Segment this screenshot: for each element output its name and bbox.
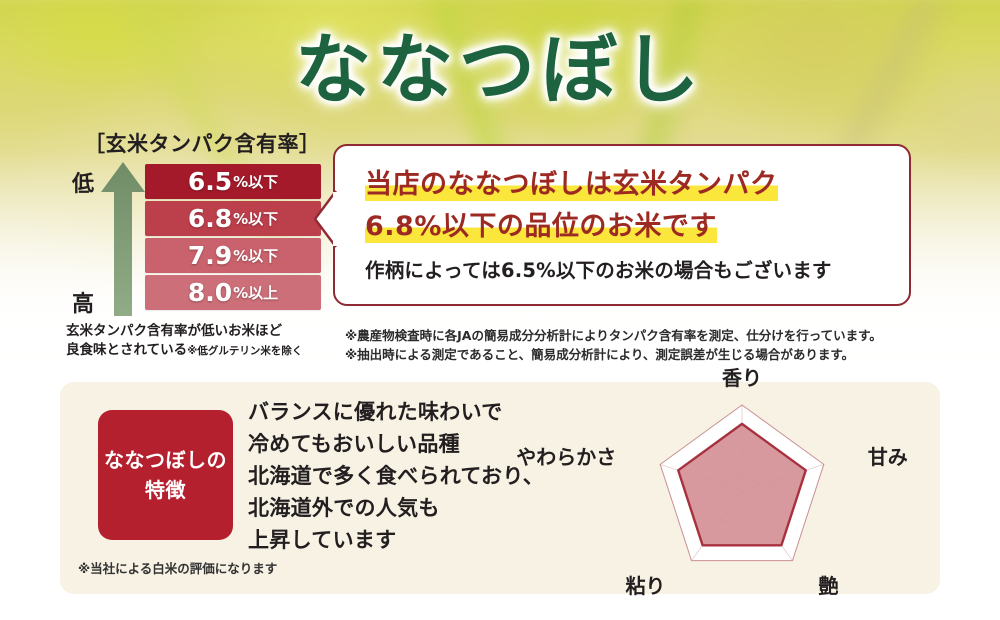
scale-low-label: 低 (72, 166, 94, 198)
measurement-notes: ※農産物検査時に各JAの簡易成分分析計によりタンパク含有率を測定、仕分けを行って… (345, 326, 905, 364)
protein-bar-list: 6.5%以下6.8%以下7.9%以下8.0%以上 (145, 164, 321, 312)
measurement-note-1: ※抽出時による測定であること、簡易成分析計により、測定誤差が生じる場合があります… (345, 345, 905, 364)
protein-bar-suffix: %以下 (233, 245, 278, 266)
infographic-page: ななつぼし ［玄米タンパク含有率］ 低 高 6.5%以下6.8%以下7.9%以下… (0, 0, 1000, 620)
features-badge: ななつぼしの 特徴 (98, 410, 233, 540)
measurement-note-0: ※農産物検査時に各JAの簡易成分分析計によりタンパク含有率を測定、仕分けを行って… (345, 326, 905, 345)
protein-bar-1: 6.8%以下 (145, 201, 321, 236)
radar-label-4: やわらかさ (0, 441, 616, 470)
protein-bar-suffix: %以上 (233, 282, 278, 303)
feature-line-0: バランスに優れた味わいで (248, 396, 548, 428)
features-text: バランスに優れた味わいで冷めてもおいしい品種北海道で多く食べられており、北海道外… (248, 396, 548, 556)
up-arrow-icon (100, 160, 146, 318)
scale-note: 玄米タンパク含有率が低いお米ほど 良食味とされている※低グルテリン米を除く (66, 322, 336, 361)
protein-bar-suffix: %以下 (233, 208, 278, 229)
protein-bar-suffix: %以下 (233, 171, 278, 192)
protein-bar-value: 6.5 (188, 167, 232, 196)
taste-radar-chart (570, 388, 930, 593)
callout-box: 当店のななつぼしは玄米タンパク 6.8%以下の品位のお米です 作柄によっては6.… (333, 144, 911, 306)
feature-line-4: 上昇しています (248, 524, 548, 556)
radar-label-1: 甘み (868, 441, 908, 470)
feature-line-3: 北海道外での人気も (248, 492, 548, 524)
radar-label-2: 艶 (819, 570, 839, 599)
callout-line-3: 作柄によっては6.5%以下のお米の場合もございます (365, 254, 832, 283)
scale-heading: ［玄米タンパク含有率］ (84, 128, 321, 158)
callout-line-1: 当店のななつぼしは玄米タンパク (365, 162, 778, 201)
radar-label-0: 香り (722, 362, 762, 391)
protein-bar-0: 6.5%以下 (145, 164, 321, 199)
scale-note-line1: 玄米タンパク含有率が低いお米ほど (66, 322, 336, 341)
callout-line-2: 6.8%以下の品位のお米です (365, 204, 717, 243)
protein-bar-value: 7.9 (188, 241, 232, 270)
protein-bar-3: 8.0%以上 (145, 275, 321, 310)
scale-note-line2: 良食味とされている※低グルテリン米を除く (66, 341, 336, 361)
protein-bar-value: 8.0 (188, 278, 232, 307)
radar-label-3: 粘り (0, 570, 665, 599)
badge-line-2: 特徴 (145, 475, 186, 505)
scale-note-small: ※低グルテリン米を除く (187, 345, 302, 357)
page-title: ななつぼし (0, 22, 1000, 118)
protein-bar-2: 7.9%以下 (145, 238, 321, 273)
callout-pointer-icon (313, 190, 337, 248)
protein-bar-value: 6.8 (188, 204, 232, 233)
scale-high-label: 高 (72, 286, 94, 318)
